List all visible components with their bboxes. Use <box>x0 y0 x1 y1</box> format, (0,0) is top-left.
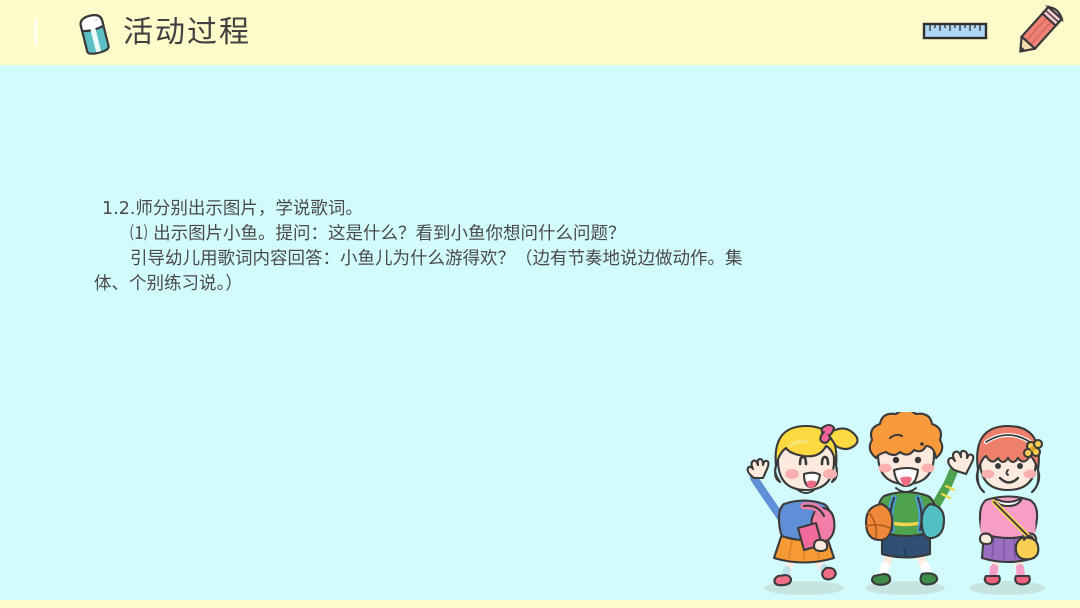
header-bar: 活动过程 <box>0 0 1080 65</box>
content-line-1: 1.2.师分别出示图片，学说歌词。 <box>92 197 992 222</box>
content-line-2: ⑴ 出示图片小鱼。提问：这是什么？看到小鱼你想问什么问题？ <box>92 222 992 247</box>
child-blonde-girl <box>748 425 858 585</box>
child-red-haired-girl <box>977 426 1042 585</box>
child-orange-boy <box>866 412 973 585</box>
content-line-3: 引导幼儿用歌词内容回答：小鱼儿为什么游得欢？（边有节奏地说边做动作。集 <box>92 247 992 272</box>
ruler-icon <box>922 18 988 44</box>
content-line-4: 体、个别练习说。） <box>92 272 992 297</box>
header-left-accent-mark <box>34 18 37 46</box>
eraser-icon <box>72 9 118 57</box>
content-text-block: 1.2.师分别出示图片，学说歌词。 ⑴ 出示图片小鱼。提问：这是什么？看到小鱼你… <box>92 197 992 297</box>
three-children-illustration <box>742 412 1072 600</box>
shadow-red-girl <box>969 581 1045 595</box>
footer-strip <box>0 600 1080 608</box>
pencil-icon <box>1000 2 1074 64</box>
page-title: 活动过程 <box>123 14 251 52</box>
slide-canvas: 活动过程 <box>0 0 1080 608</box>
